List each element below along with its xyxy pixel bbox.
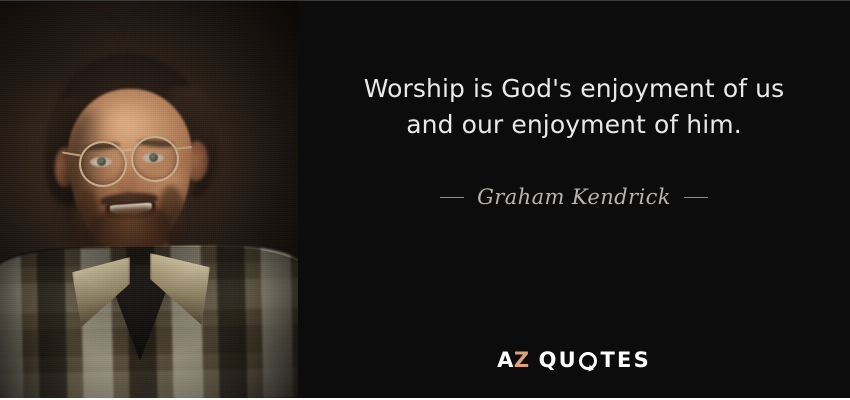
logo-quotes: QUTES: [539, 350, 651, 371]
quote-text: Worship is God's enjoyment of us and our…: [324, 71, 824, 143]
author-name: Graham Kendrick: [477, 185, 671, 209]
attribution-rule-left: [440, 197, 464, 198]
speech-bubble-icon: [579, 352, 597, 370]
logo-letter-a: A: [497, 348, 514, 372]
attribution: Graham Kendrick: [324, 185, 824, 209]
author-portrait: [0, 1, 298, 400]
quote-text-panel: Worship is God's enjoyment of us and our…: [298, 1, 850, 400]
logo-quotes-suffix: TES: [601, 350, 651, 371]
attribution-rule-right: [684, 197, 708, 198]
logo-letter-z: Z: [514, 348, 530, 372]
portrait-image: [0, 1, 298, 400]
eyeglasses-lens-left: [79, 141, 127, 187]
azquotes-logo[interactable]: AZ QUTES: [324, 350, 824, 371]
quote-line-1: Worship is God's enjoyment of us: [324, 71, 824, 107]
quote-line-2: and our enjoyment of him.: [324, 107, 824, 143]
quote-card: Worship is God's enjoyment of us and our…: [0, 0, 850, 400]
logo-az: AZ: [497, 350, 530, 371]
eyeglasses-lens-right: [131, 136, 179, 182]
logo-quotes-prefix: QU: [539, 350, 578, 371]
